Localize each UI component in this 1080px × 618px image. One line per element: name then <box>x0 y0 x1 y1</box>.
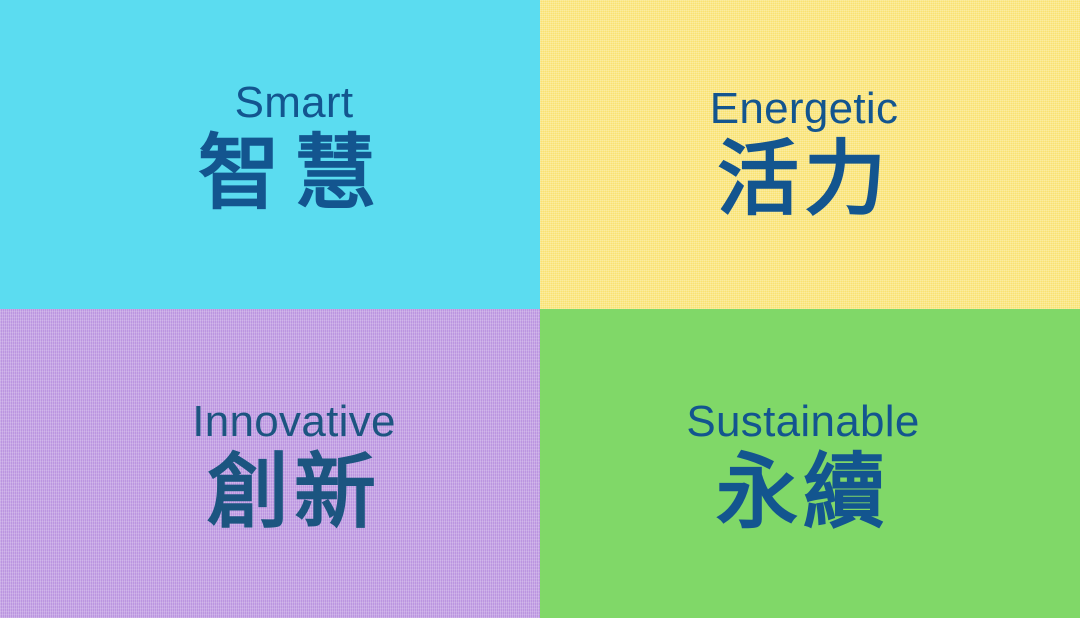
label-en-smart: Smart <box>198 81 390 126</box>
label-cjk-energetic: 活力 <box>710 137 899 224</box>
panel-smart: Smart 智慧 <box>0 0 540 309</box>
panel-sustainable: Sustainable 永續 <box>540 309 1080 618</box>
label-en-innovative: Innovative <box>192 400 396 445</box>
label-cjk-sustainable: 永續 <box>686 450 919 537</box>
word-block-innovative: Innovative 創新 <box>192 400 396 538</box>
label-en-sustainable: Sustainable <box>686 400 919 445</box>
word-block-sustainable: Sustainable 永續 <box>686 400 919 538</box>
brand-values-poster: Smart 智慧 Energetic 活力 Innovative 創新 Sust… <box>0 0 1080 618</box>
label-cjk-smart: 智慧 <box>198 131 390 218</box>
word-block-smart: Smart 智慧 <box>198 81 390 219</box>
label-cjk-innovative: 創新 <box>192 450 396 537</box>
word-block-energetic: Energetic 活力 <box>710 87 899 225</box>
label-en-energetic: Energetic <box>710 87 899 132</box>
panel-energetic: Energetic 活力 <box>540 0 1080 309</box>
panel-innovative: Innovative 創新 <box>0 309 540 618</box>
